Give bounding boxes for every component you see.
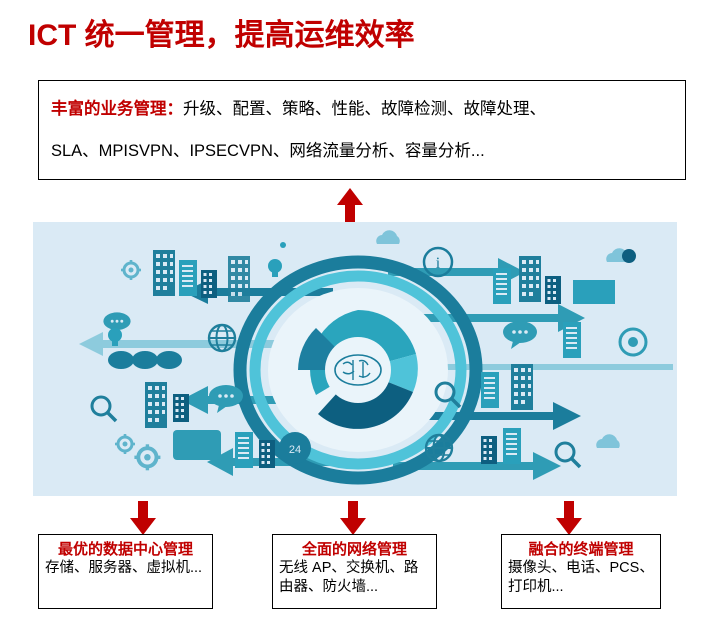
- callout-box-terminal: 融合的终端管理 摄像头、电话、PCS、打印机...: [501, 534, 661, 609]
- arrow-shaft: [348, 501, 358, 519]
- center-hub: [240, 262, 476, 478]
- arrow-head: [340, 518, 366, 535]
- callout-title: 全面的网络管理: [279, 540, 430, 559]
- up-arrow-icon: [337, 188, 363, 222]
- description-line-2: SLA、MPISVPN、IPSECVPN、网络流量分析、容量分析...: [51, 141, 485, 161]
- arrow-shaft: [345, 204, 355, 222]
- ict-management-infographic: 24 i: [33, 222, 677, 496]
- arrow-head: [130, 518, 156, 535]
- arrow-head: [556, 518, 582, 535]
- brain-icon: [335, 355, 381, 385]
- callout-title: 最优的数据中心管理: [45, 540, 206, 559]
- callout-body: 摄像头、电话、PCS、打印机...: [508, 559, 654, 597]
- page-title: ICT 统一管理，提高运维效率: [28, 18, 415, 54]
- down-arrow-icon-1: [130, 501, 156, 535]
- down-arrow-icon-2: [340, 501, 366, 535]
- down-arrow-icon-3: [556, 501, 582, 535]
- description-box: 丰富的业务管理：升级、配置、策略、性能、故障检测、故障处理、 SLA、MPISV…: [38, 80, 686, 180]
- description-line-1-rest: 升级、配置、策略、性能、故障检测、故障处理、: [183, 100, 546, 118]
- callout-title: 融合的终端管理: [508, 540, 654, 559]
- description-line-1: 丰富的业务管理：升级、配置、策略、性能、故障检测、故障处理、: [51, 99, 546, 119]
- arrow-shaft: [564, 501, 574, 519]
- description-emphasis: 丰富的业务管理：: [51, 100, 183, 118]
- arrow-head: [337, 188, 363, 205]
- arrow-shaft: [138, 501, 148, 519]
- callout-box-datacenter: 最优的数据中心管理 存储、服务器、虚拟机...: [38, 534, 213, 609]
- svg-text:24: 24: [289, 444, 301, 456]
- svg-text:i: i: [436, 255, 441, 272]
- callout-box-network: 全面的网络管理 无线 AP、交换机、路由器、防火墙...: [272, 534, 437, 609]
- callout-body: 存储、服务器、虚拟机...: [45, 559, 206, 578]
- infographic-svg: 24 i: [33, 222, 677, 496]
- callout-body: 无线 AP、交换机、路由器、防火墙...: [279, 559, 430, 597]
